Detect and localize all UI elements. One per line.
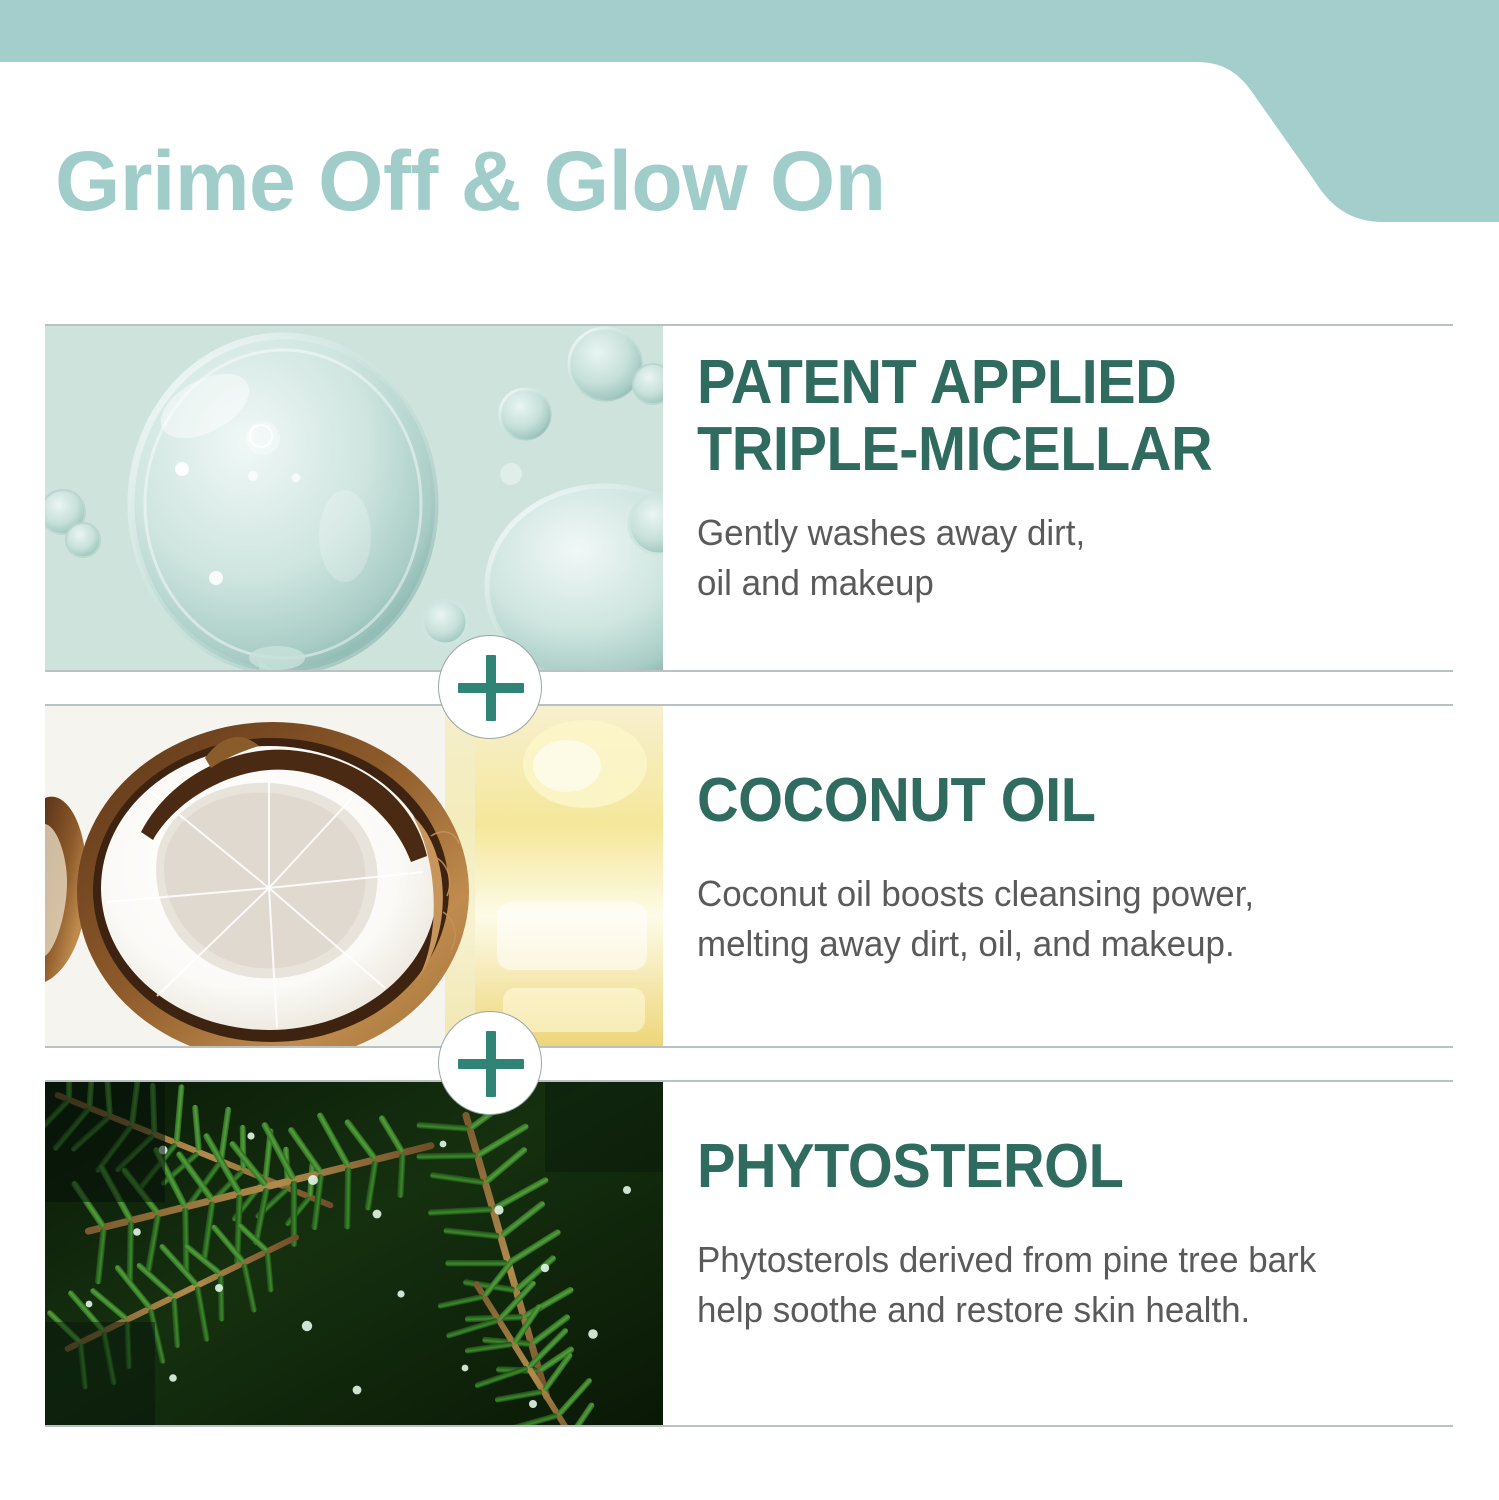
plus-icon <box>438 635 542 739</box>
section-heading-micellar: PATENT APPLIED TRIPLE-MICELLAR <box>697 350 1400 484</box>
divider-1 <box>45 670 1453 672</box>
section-heading-phytosterol: PHYTOSTEROL <box>697 1134 1400 1201</box>
section-text-phytosterol: PHYTOSTEROL Phytosterols derived from pi… <box>697 1134 1453 1334</box>
pine-branches-photo <box>45 1082 663 1425</box>
plus-icon-vertical-bar <box>486 1031 496 1097</box>
section-body-phytosterol: Phytosterols derived from pine tree bark… <box>697 1235 1430 1334</box>
section-body-coconut: Coconut oil boosts cleansing power, melt… <box>697 869 1430 968</box>
section-body-micellar: Gently washes away dirt, oil and makeup <box>697 508 1430 607</box>
section-text-micellar: PATENT APPLIED TRIPLE-MICELLAR Gently wa… <box>697 350 1453 607</box>
micellar-bubbles-photo <box>45 326 663 670</box>
page-title: Grime Off & Glow On <box>55 139 886 223</box>
section-row-phytosterol: PHYTOSTEROL Phytosterols derived from pi… <box>45 1082 1453 1425</box>
coconut-oil-photo <box>45 706 663 1046</box>
plus-icon-vertical-bar <box>486 655 496 721</box>
divider-bottom <box>45 1425 1453 1427</box>
divider-3 <box>45 1046 1453 1048</box>
section-text-coconut: COCONUT OIL Coconut oil boosts cleansing… <box>697 768 1453 968</box>
plus-icon <box>438 1011 542 1115</box>
section-row-coconut: COCONUT OIL Coconut oil boosts cleansing… <box>45 706 1453 1046</box>
section-heading-coconut: COCONUT OIL <box>697 768 1400 835</box>
section-row-micellar: PATENT APPLIED TRIPLE-MICELLAR Gently wa… <box>45 326 1453 670</box>
